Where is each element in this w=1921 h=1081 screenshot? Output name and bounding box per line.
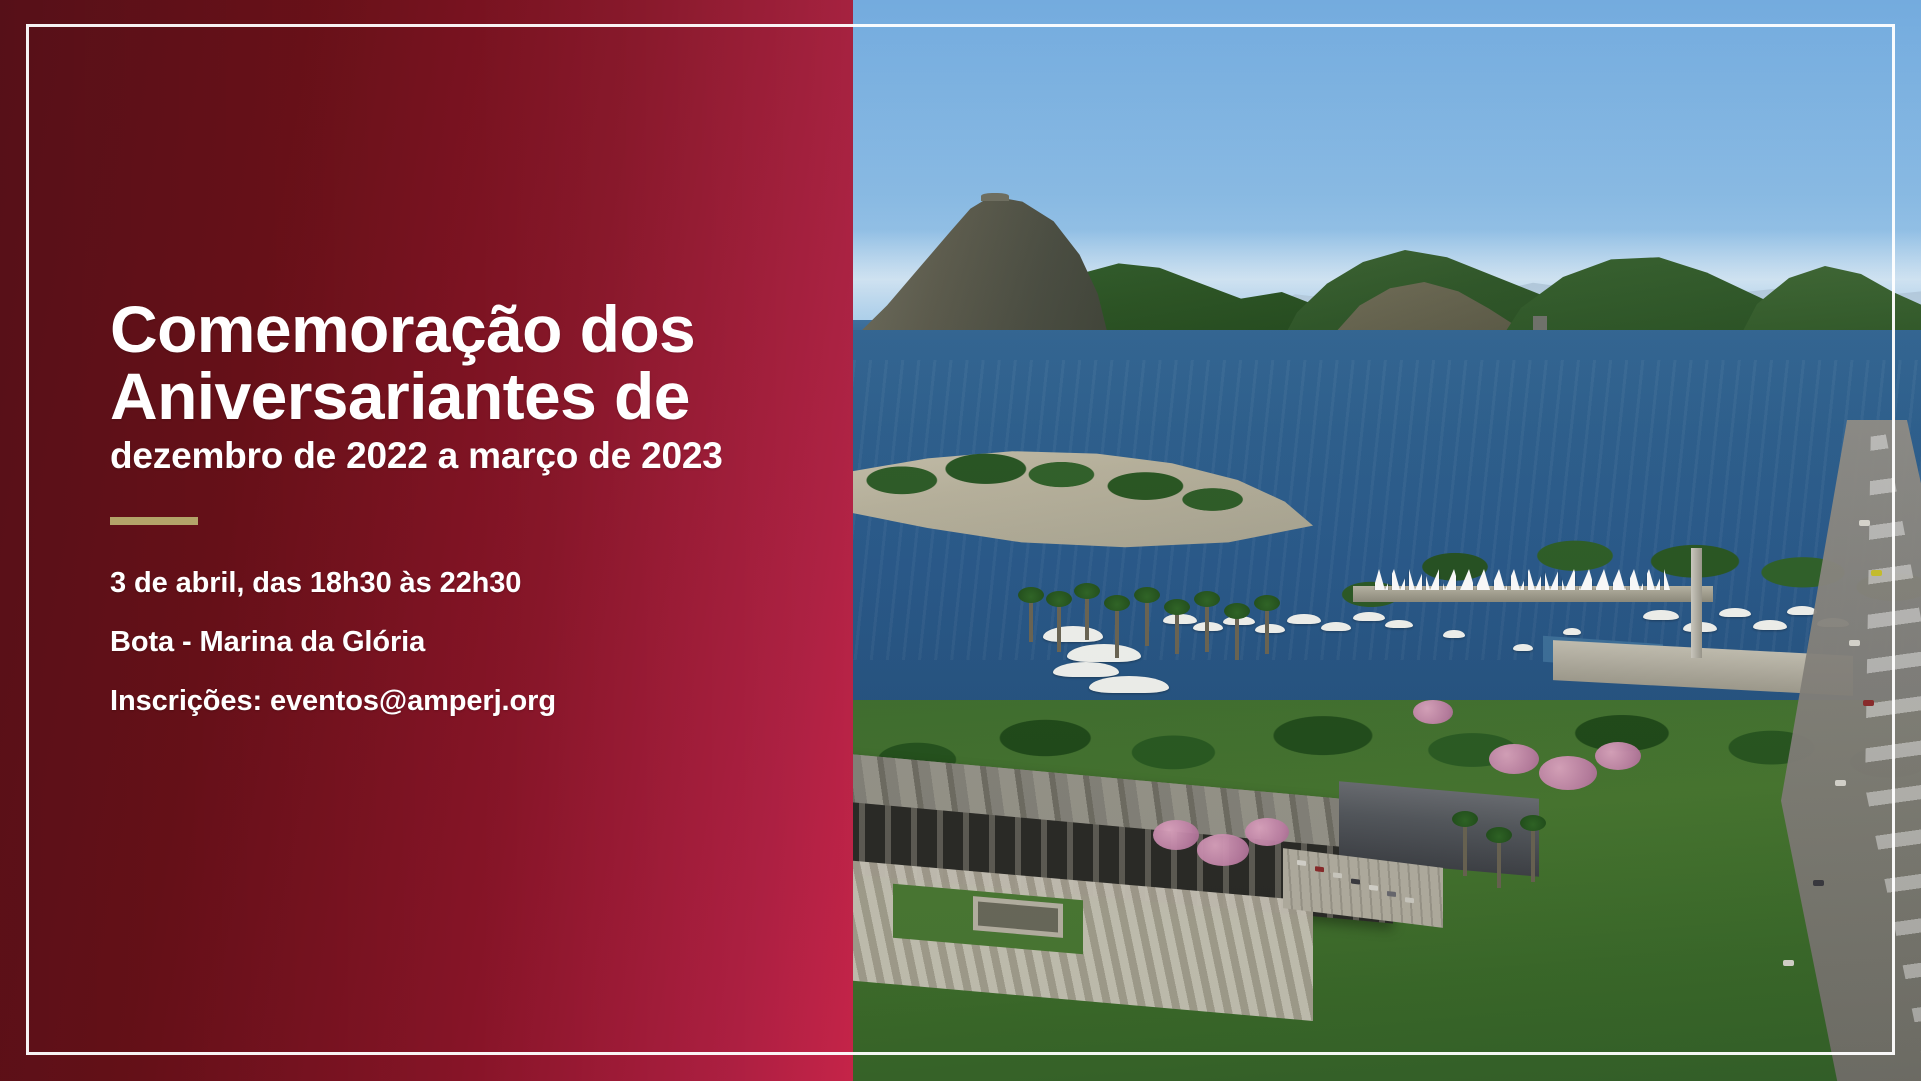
- parked-car: [1405, 897, 1414, 903]
- blossom-tree: [1539, 756, 1597, 790]
- parked-car: [1297, 860, 1306, 866]
- banner-content: Comemoração dos Aniversariantes de dezem…: [110, 296, 810, 716]
- palm-tree: [1463, 820, 1467, 876]
- car-on-highway: [1863, 700, 1874, 706]
- car-on-highway: [1813, 880, 1824, 886]
- car-on-highway: [1859, 520, 1870, 526]
- blossom-tree: [1595, 742, 1641, 770]
- title-line-1: Comemoração dos: [110, 292, 695, 366]
- boat: [1255, 624, 1285, 633]
- parked-car: [1351, 879, 1360, 885]
- boat: [1163, 614, 1197, 624]
- parked-car: [1387, 891, 1396, 897]
- palm-tree: [1205, 600, 1209, 652]
- yacht: [1043, 626, 1103, 642]
- boat: [1443, 630, 1465, 638]
- yacht: [1067, 644, 1141, 662]
- blossom-tree: [1489, 744, 1539, 774]
- parked-car: [1315, 866, 1324, 872]
- palm-tree: [1057, 600, 1061, 652]
- palm-tree: [1531, 824, 1535, 882]
- wwii-monument: [1691, 548, 1702, 658]
- car-on-highway: [1849, 640, 1860, 646]
- boat: [1643, 610, 1679, 620]
- parked-car: [1369, 885, 1378, 891]
- detail-date-time: 3 de abril, das 18h30 às 22h30: [110, 569, 810, 598]
- blossom-tree: [1245, 818, 1289, 846]
- car-on-highway: [1835, 780, 1846, 786]
- palm-tree: [1145, 596, 1149, 646]
- boat: [1385, 620, 1413, 628]
- boat: [1321, 622, 1351, 631]
- palm-tree: [1115, 604, 1119, 658]
- boat: [1513, 644, 1533, 651]
- boat: [1787, 606, 1817, 615]
- boat: [1753, 620, 1787, 630]
- palm-tree: [1497, 836, 1501, 888]
- event-details-list: 3 de abril, das 18h30 às 22h30 Bota - Ma…: [110, 569, 810, 716]
- detail-venue: Bota - Marina da Glória: [110, 628, 810, 657]
- blossom-tree: [1413, 700, 1453, 724]
- car-on-highway: [1783, 960, 1794, 966]
- detail-registration-email: Inscrições: eventos@amperj.org: [110, 687, 810, 716]
- page-subtitle: dezembro de 2022 a março de 2023: [110, 435, 810, 476]
- yacht: [1053, 662, 1119, 677]
- car-on-highway: [1871, 570, 1882, 576]
- blossom-tree: [1197, 834, 1249, 866]
- event-banner: Comemoração dos Aniversariantes de dezem…: [0, 0, 1921, 1081]
- palm-tree: [1235, 612, 1239, 660]
- palm-tree: [1029, 596, 1033, 642]
- accent-divider: [110, 517, 198, 525]
- palm-tree: [1175, 608, 1179, 654]
- palm-tree: [1265, 604, 1269, 654]
- palm-tree: [1085, 592, 1089, 640]
- blossom-tree: [1153, 820, 1199, 850]
- boat: [1719, 608, 1751, 617]
- parked-car: [1333, 872, 1342, 878]
- title-line-2: Aniversariantes de: [110, 359, 690, 433]
- page-title: Comemoração dos Aniversariantes de: [110, 296, 810, 429]
- boat: [1353, 612, 1385, 621]
- boat: [1563, 628, 1581, 635]
- spit-vegetation: [853, 440, 1263, 536]
- aerial-photo-rio: [853, 0, 1921, 1081]
- boat: [1287, 614, 1321, 624]
- sugarloaf-summit-station: [981, 193, 1009, 201]
